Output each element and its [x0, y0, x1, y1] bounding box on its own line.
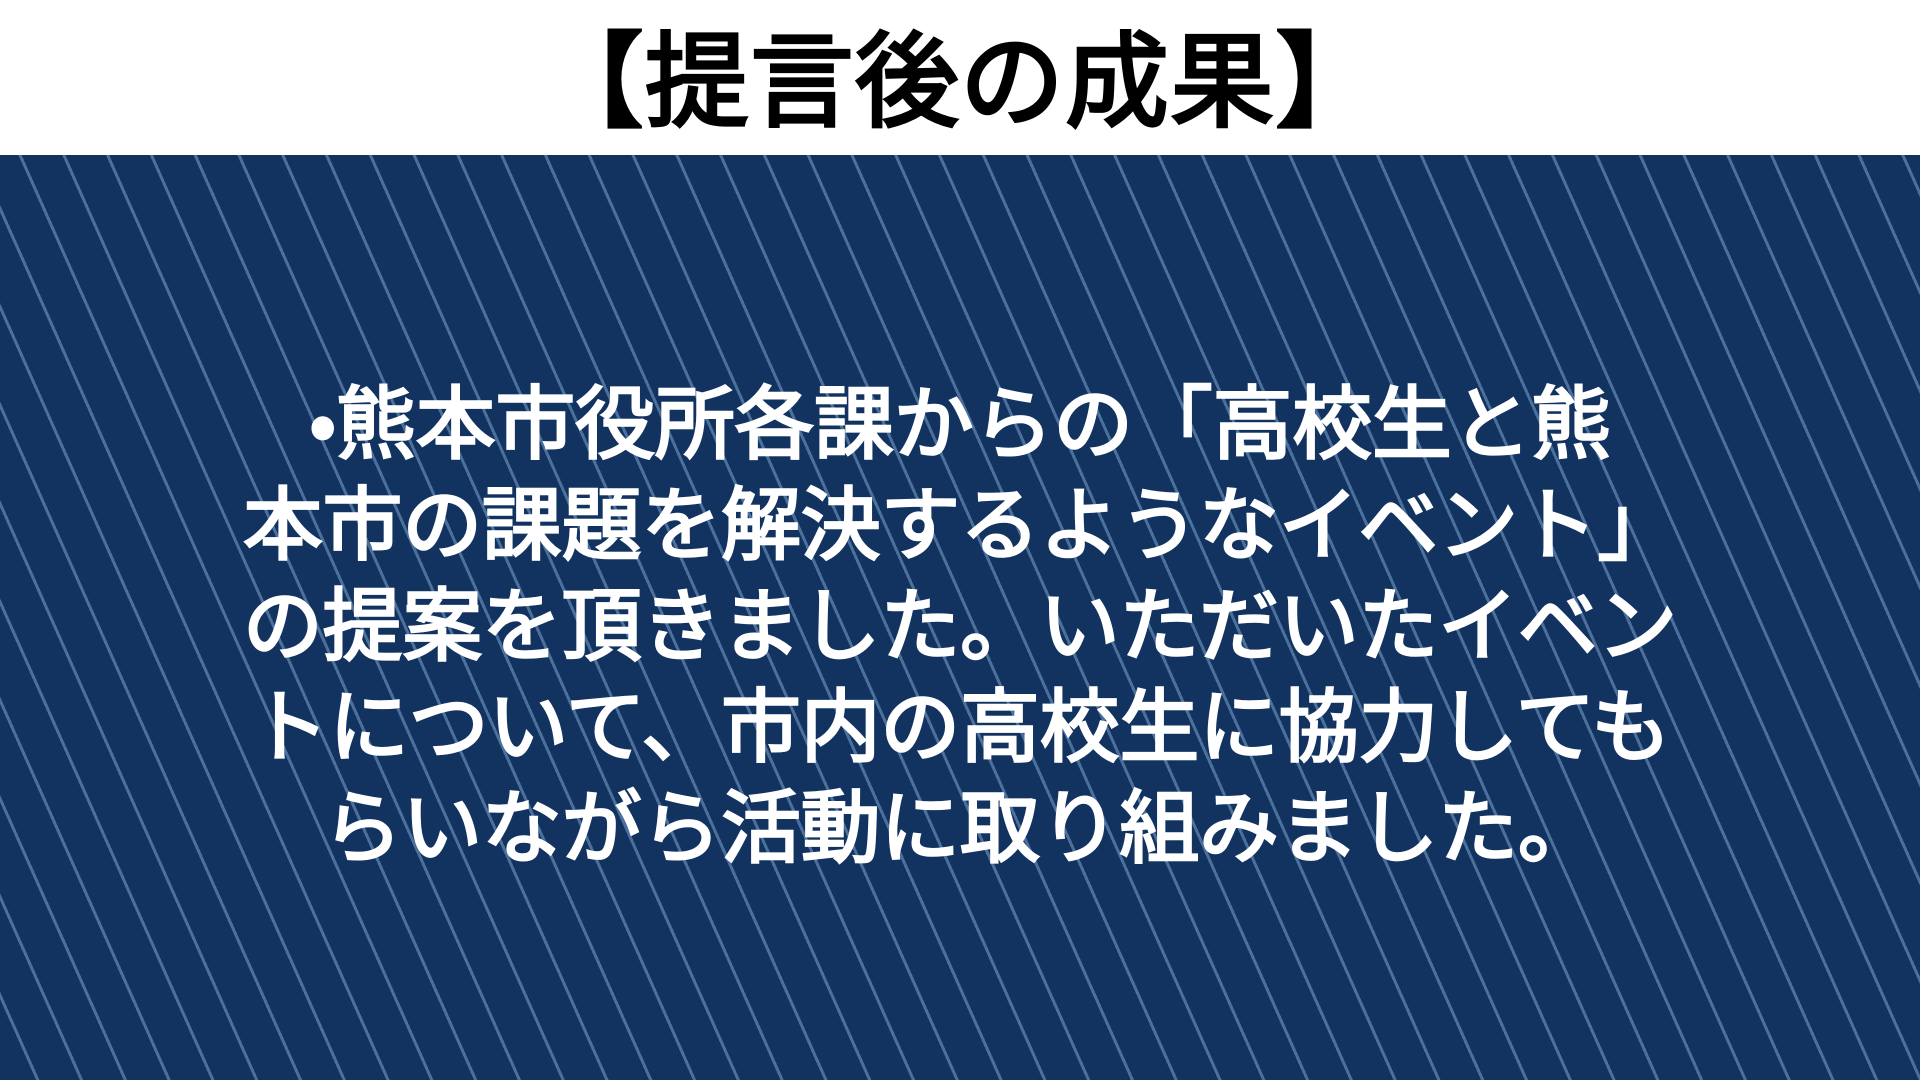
presentation-slide: 【提言後の成果】 ・熊本市役所各課からの「高校生と熊 本市の課題を解決するような… — [0, 0, 1920, 1080]
body-text-line: ・熊本市役所各課からの「高校生と熊 — [243, 374, 1677, 475]
slide-header-band: 【提言後の成果】 — [0, 0, 1920, 155]
body-text-container: ・熊本市役所各課からの「高校生と熊 本市の課題を解決するようなイベント」 の提案… — [0, 155, 1920, 1080]
slide-body-panel: ・熊本市役所各課からの「高校生と熊 本市の課題を解決するようなイベント」 の提案… — [0, 155, 1920, 1080]
body-text-line: らいながら活動に取り組みました。 — [243, 778, 1677, 879]
page-title: 【提言後の成果】 — [540, 30, 1380, 134]
body-text-line: 本市の課題を解決するようなイベント」 — [243, 475, 1677, 576]
body-text-line: の提案を頂きました。いただいたイベン — [243, 576, 1677, 677]
body-text-line: トについて、市内の高校生に協力しても — [243, 677, 1677, 778]
body-text-block: ・熊本市役所各課からの「高校生と熊 本市の課題を解決するようなイベント」 の提案… — [243, 374, 1677, 879]
